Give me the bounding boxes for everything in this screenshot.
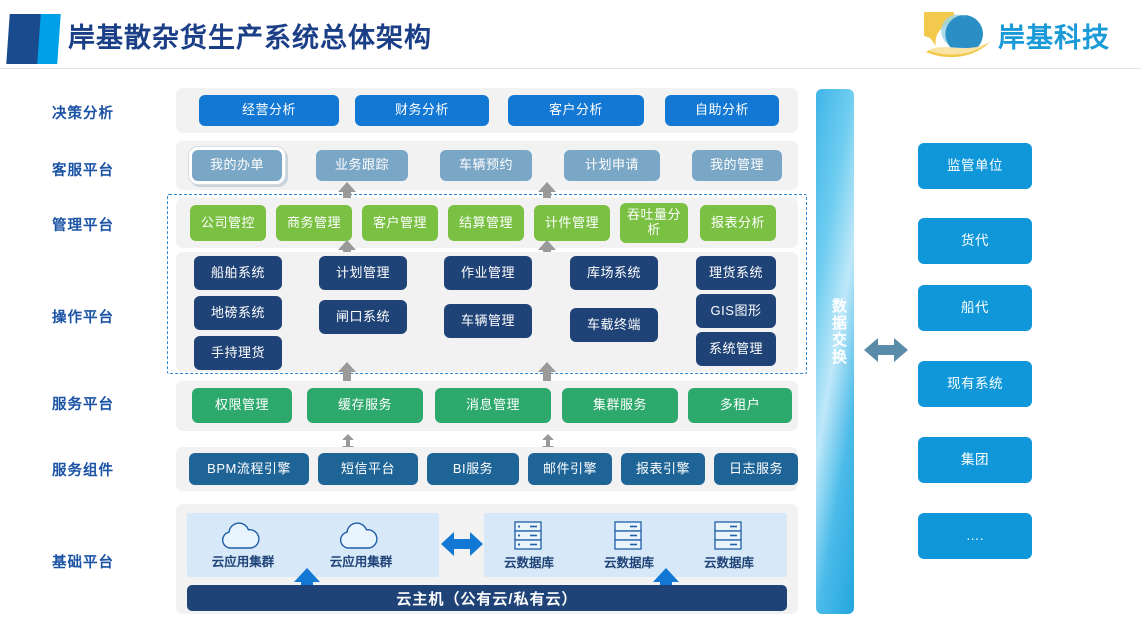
chip-comp-0[interactable]: BPM流程引擎 (189, 453, 309, 485)
chip-op-0-0[interactable]: 船舶系统 (194, 256, 282, 290)
company-logo: 岸基科技 (924, 10, 1119, 62)
row-label-service: 服务平台 (52, 393, 162, 414)
chip-comp-2[interactable]: BI服务 (427, 453, 519, 485)
infrastructure-panel: 云应用集群 云应用集群 (176, 504, 798, 614)
chip-op-2-1[interactable]: 车辆管理 (444, 304, 532, 338)
chip-op-3-0[interactable]: 库场系统 (570, 256, 658, 290)
chip-mgmt-6[interactable]: 报表分析 (700, 205, 776, 241)
architecture-diagram-page: 岸基散杂货生产系统总体架构 岸基科技 决策分析 客服平台 管理平台 操作平台 服… (0, 0, 1141, 617)
chip-svc-2[interactable]: 消息管理 (435, 388, 551, 423)
chip-decision-0[interactable]: 经营分析 (199, 95, 339, 126)
row-label-service-components: 服务组件 (52, 459, 162, 480)
chip-external-5[interactable]: …. (918, 513, 1032, 559)
chip-svc-4[interactable]: 多租户 (688, 388, 792, 423)
chip-mgmt-3[interactable]: 结算管理 (448, 205, 524, 241)
chip-op-1-1[interactable]: 闸口系统 (319, 300, 407, 334)
chip-comp-5[interactable]: 日志服务 (714, 453, 798, 485)
page-header: 岸基散杂货生产系统总体架构 岸基科技 (0, 0, 1141, 68)
row-label-customer-service: 客服平台 (52, 159, 162, 180)
cloud-app-label-1: 云应用集群 (321, 551, 401, 570)
chip-cs-4[interactable]: 我的管理 (692, 150, 782, 181)
chip-comp-4[interactable]: 报表引擎 (621, 453, 705, 485)
operation-panel: 船舶系统 地磅系统 手持理货 计划管理 闸口系统 作业管理 车辆管理 库场系统 … (176, 252, 798, 372)
chip-decision-2[interactable]: 客户分析 (508, 95, 644, 126)
header-accent-light (37, 14, 60, 64)
chip-cs-1[interactable]: 业务跟踪 (316, 150, 408, 181)
chip-cs-0[interactable]: 我的办单 (192, 150, 282, 181)
service-components-panel: BPM流程引擎 短信平台 BI服务 邮件引擎 报表引擎 日志服务 (176, 447, 798, 491)
chip-svc-0[interactable]: 权限管理 (192, 388, 292, 423)
chip-external-1[interactable]: 货代 (918, 218, 1032, 264)
chip-op-2-0[interactable]: 作业管理 (444, 256, 532, 290)
chip-external-2[interactable]: 船代 (918, 285, 1032, 331)
row-label-operation: 操作平台 (52, 306, 162, 327)
logo-text: 岸基科技 (998, 16, 1110, 55)
cloud-db-subpanel: 云数据库 云数据库 (484, 513, 787, 577)
cloud-db-label-2: 云数据库 (690, 552, 768, 571)
decision-panel: 经营分析 财务分析 客户分析 自助分析 (176, 88, 798, 133)
cloud-db-label-0: 云数据库 (490, 552, 568, 571)
wave-circle-logo-icon (924, 12, 996, 58)
chip-external-0[interactable]: 监管单位 (918, 143, 1032, 189)
chip-op-4-2[interactable]: 系统管理 (696, 332, 776, 366)
chip-mgmt-1[interactable]: 商务管理 (276, 205, 352, 241)
chip-mgmt-2[interactable]: 客户管理 (362, 205, 438, 241)
chip-op-3-1[interactable]: 车载终端 (570, 308, 658, 342)
chip-cs-3[interactable]: 计划申请 (564, 150, 660, 181)
chip-cs-2[interactable]: 车辆预约 (440, 150, 532, 181)
cloud-app-label-0: 云应用集群 (203, 551, 283, 570)
double-arrow-horizontal-icon (864, 335, 908, 365)
chip-mgmt-4[interactable]: 计件管理 (534, 205, 610, 241)
service-panel: 权限管理 缓存服务 消息管理 集群服务 多租户 (176, 381, 798, 431)
double-arrow-horizontal-icon (441, 530, 483, 558)
chip-mgmt-0[interactable]: 公司管控 (190, 205, 266, 241)
row-label-management: 管理平台 (52, 214, 162, 235)
chip-op-4-1[interactable]: GIS图形 (696, 294, 776, 328)
data-exchange-label: 数据交换 (823, 298, 847, 366)
chip-comp-1[interactable]: 短信平台 (318, 453, 418, 485)
chip-op-0-2[interactable]: 手持理货 (194, 336, 282, 370)
header-divider (0, 68, 1141, 69)
chip-external-3[interactable]: 现有系统 (918, 361, 1032, 407)
management-panel: 公司管控 商务管理 客户管理 结算管理 计件管理 吞吐量分 析 报表分析 (176, 198, 798, 248)
chip-svc-1[interactable]: 缓存服务 (307, 388, 423, 423)
chip-comp-3[interactable]: 邮件引擎 (528, 453, 612, 485)
chip-svc-3[interactable]: 集群服务 (562, 388, 678, 423)
page-title: 岸基散杂货生产系统总体架构 (68, 16, 432, 55)
chip-external-4[interactable]: 集团 (918, 437, 1032, 483)
chip-mgmt-5[interactable]: 吞吐量分 析 (620, 203, 688, 243)
row-label-decision: 决策分析 (52, 102, 162, 123)
customer-service-panel: 我的办单 业务跟踪 车辆预约 计划申请 我的管理 (176, 141, 798, 190)
cloud-host-bar[interactable]: 云主机（公有云/私有云） (187, 585, 787, 611)
chip-op-4-0[interactable]: 理货系统 (696, 256, 776, 290)
chip-decision-3[interactable]: 自助分析 (665, 95, 779, 126)
chip-op-1-0[interactable]: 计划管理 (319, 256, 407, 290)
row-label-infrastructure: 基础平台 (52, 551, 162, 572)
chip-op-0-1[interactable]: 地磅系统 (194, 296, 282, 330)
chip-decision-1[interactable]: 财务分析 (355, 95, 489, 126)
